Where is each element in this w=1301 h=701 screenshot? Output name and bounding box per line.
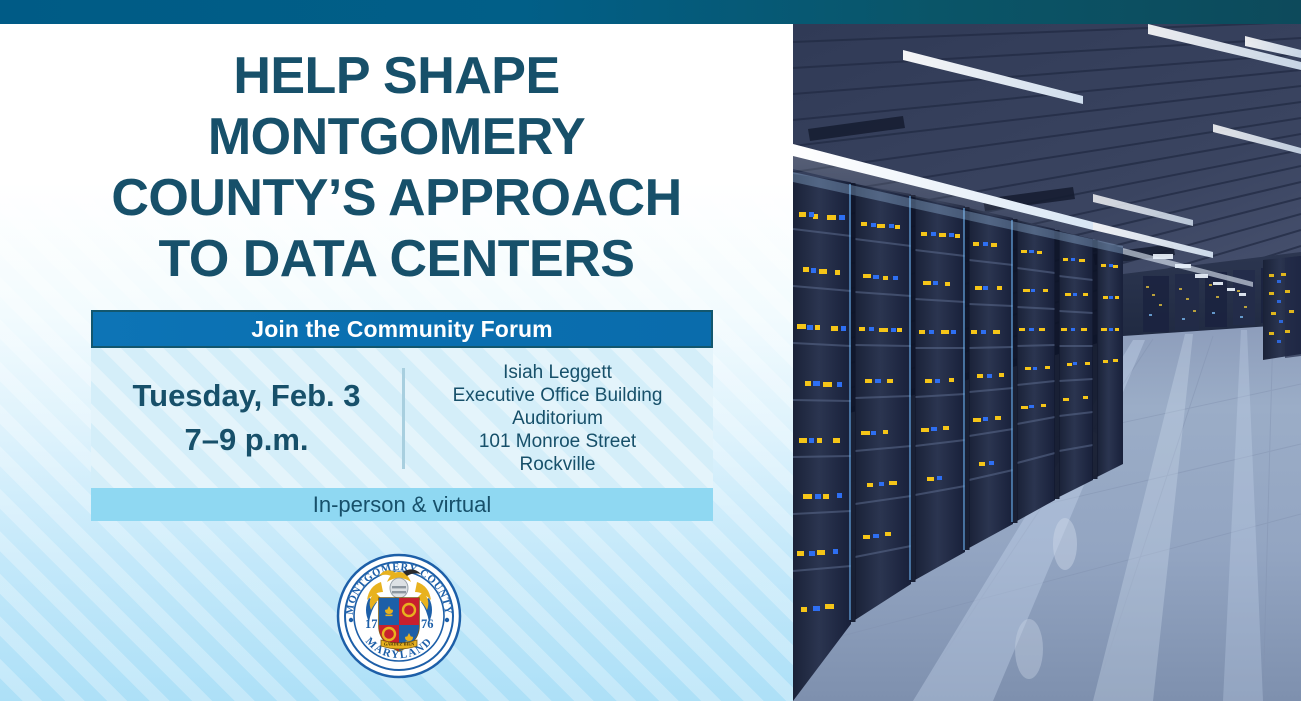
- event-details-card: Join the Community Forum Tuesday, Feb. 3…: [91, 310, 713, 521]
- poster-content-column: HELP SHAPE MONTGOMERY COUNTY’S APPROACH …: [0, 24, 793, 701]
- venue-line-5: Rockville: [402, 453, 713, 476]
- headline-line-1: HELP SHAPE: [0, 46, 793, 107]
- forum-banner: Join the Community Forum: [91, 310, 713, 348]
- seal-motto-text: GARDEZ BIEN: [384, 642, 415, 647]
- event-datetime: Tuesday, Feb. 3 7–9 p.m.: [91, 374, 402, 462]
- seal-year-left: 17: [365, 617, 378, 631]
- page-title: HELP SHAPE MONTGOMERY COUNTY’S APPROACH …: [0, 46, 793, 290]
- event-date: Tuesday, Feb. 3: [91, 374, 402, 418]
- headline-line-3: COUNTY’S APPROACH: [0, 168, 793, 229]
- event-time: 7–9 p.m.: [91, 418, 402, 462]
- seal-motto-ribbon: GARDEZ BIEN: [381, 640, 417, 649]
- venue-line-2: Executive Office Building: [402, 384, 713, 407]
- top-accent-bar: [0, 0, 1301, 24]
- venue-line-1: Isiah Leggett: [402, 361, 713, 384]
- venue-line-3: Auditorium: [402, 407, 713, 430]
- seal-year-right: 76: [421, 617, 434, 631]
- data-center-photo: [793, 24, 1301, 701]
- poster-canvas: HELP SHAPE MONTGOMERY COUNTY’S APPROACH …: [0, 0, 1301, 701]
- venue-line-4: 101 Monroe Street: [402, 430, 713, 453]
- attendance-format-banner: In-person & virtual: [91, 488, 713, 521]
- event-body: Tuesday, Feb. 3 7–9 p.m. Isiah Leggett E…: [91, 348, 713, 488]
- montgomery-county-seal-icon: MONTGOMERY COUNTY MARYLAND 17 76: [335, 552, 463, 680]
- headline-line-2: MONTGOMERY: [0, 107, 793, 168]
- headline-line-4: TO DATA CENTERS: [0, 229, 793, 290]
- event-venue: Isiah Leggett Executive Office Building …: [402, 361, 713, 476]
